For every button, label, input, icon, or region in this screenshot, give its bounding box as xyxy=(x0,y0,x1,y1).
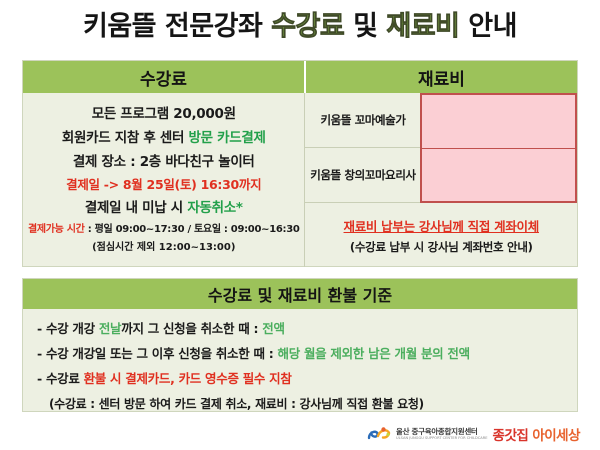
logo-brand-part2: 아이세상 xyxy=(532,424,580,444)
tuition-cell: 모든 프로그램 20,000원 회원카드 지참 후 센터 방문 카드결제 결제 … xyxy=(23,93,305,267)
refund-rule-after-start: - 수강 개강일 또는 그 이후 신청을 취소한 때 : 해당 월을 제외한 남… xyxy=(37,346,577,362)
title-segment-5: 안내 xyxy=(459,11,517,42)
column-header-tuition: 수강료 xyxy=(23,61,306,93)
materials-account-notice: (수강료 납부 시 강사님 계좌번호 안내) xyxy=(350,239,533,255)
materials-price-per-session: (1회 6,000원) xyxy=(420,175,577,193)
refund-rule-1-part1: - 수강 개강 xyxy=(37,321,99,336)
materials-course-price: 24,000원 (1회 3,000원) xyxy=(420,102,577,138)
materials-course-price: 24,000원 (1회 6,000원) xyxy=(420,157,577,193)
refund-policy-table: 수강료 및 재료비 환불 기준 - 수강 개강 전날까지 그 신청을 취소한 때… xyxy=(22,278,578,412)
refund-rule-3-highlight: 환불 시 결제카드, 카드 영수증 필수 지참 xyxy=(84,371,292,386)
refund-rule-1-highlight-day: 전날 xyxy=(99,321,121,336)
tuition-payment-method-highlight: 방문 카드결제 xyxy=(189,130,266,146)
materials-payment-note: 재료비 납부는 강사님께 직접 계좌이체 (수강료 납부 시 강사님 계좌번호 … xyxy=(305,203,577,267)
title-segment-materials: 재료비 xyxy=(386,11,459,42)
tuition-line-payment-method: 회원카드 지참 후 센터 방문 카드결제 xyxy=(62,127,266,149)
tuition-autocancel-highlight: 자동취소* xyxy=(187,200,242,216)
logo-center-name-korean: 울산 중구육아종합지원센터 xyxy=(396,428,488,436)
refund-rule-3-part1: - 수강료 xyxy=(37,371,84,386)
materials-cell: 키움뜰 꼬마예술가 24,000원 (1회 3,000원) 키움뜰 창의꼬마요리… xyxy=(305,93,577,267)
tuition-line-lunch: (점심시간 제외 12:00~13:00) xyxy=(92,240,235,256)
column-header-materials: 재료비 xyxy=(306,61,577,93)
refund-rule-2-part1: - 수강 개강일 또는 그 이후 신청을 취소한 때 : xyxy=(37,346,278,361)
organization-logo: 울산 중구육아종합지원센터 ULSAN JUNGGU SUPPORT CENTE… xyxy=(367,424,580,444)
logo-swoosh-icon xyxy=(367,425,391,443)
refund-policy-header: 수강료 및 재료비 환불 기준 xyxy=(23,279,577,309)
tuition-line-hours: 결제가능 시간 : 평일 09:00~17:30 / 토요일 : 09:00~1… xyxy=(28,221,300,238)
refund-rule-card-required: - 수강료 환불 시 결제카드, 카드 영수증 필수 지참 xyxy=(37,371,577,387)
tuition-hours-label: 결제가능 시간 xyxy=(28,224,85,235)
materials-course-name: 키움뜰 꼬마예술가 xyxy=(305,113,420,128)
materials-price-total: 24,000원 xyxy=(420,102,577,120)
logo-center-name-english: ULSAN JUNGGU SUPPORT CENTER FOR CHILDCAR… xyxy=(396,437,488,441)
refund-rule-1-highlight-amount: 전액 xyxy=(262,321,284,336)
fees-table-header-row: 수강료 재료비 xyxy=(23,61,577,93)
tuition-line-payment-place: 결제 장소 : 2층 바다친구 놀이터 xyxy=(73,151,255,173)
materials-transfer-notice: 재료비 납부는 강사님께 직접 계좌이체 xyxy=(344,216,539,235)
title-segment-1: 키움뜰 전문강좌 xyxy=(83,11,271,42)
materials-price-per-session: (1회 3,000원) xyxy=(420,120,577,138)
materials-row: 키움뜰 창의꼬마요리사 24,000원 (1회 6,000원) xyxy=(305,148,577,203)
fees-table: 수강료 재료비 모든 프로그램 20,000원 회원카드 지참 후 센터 방문 … xyxy=(22,60,578,267)
title-segment-3: 및 xyxy=(344,11,386,42)
refund-rule-1-part3: 까지 그 신청을 취소한 때 : xyxy=(121,321,262,336)
tuition-line-deadline: 결제일 -> 8월 25일(토) 16:30까지 xyxy=(66,175,261,195)
refund-rule-before-start: - 수강 개강 전날까지 그 신청을 취소한 때 : 전액 xyxy=(37,321,577,337)
materials-row: 키움뜰 꼬마예술가 24,000원 (1회 3,000원) xyxy=(305,93,577,148)
refund-rule-detail-note: (수강료 : 센터 방문 하여 카드 결제 취소, 재료비 : 강사님께 직접 … xyxy=(37,396,577,412)
tuition-line-autocancel: 결제일 내 미납 시 자동취소* xyxy=(85,197,243,219)
logo-center-name: 울산 중구육아종합지원센터 ULSAN JUNGGU SUPPORT CENTE… xyxy=(396,428,488,441)
tuition-line-program-price: 모든 프로그램 20,000원 xyxy=(92,103,236,125)
materials-course-name: 키움뜰 창의꼬마요리사 xyxy=(305,168,420,183)
poster-root: 키움뜰 전문강좌 수강료 및 재료비 안내 수강료 재료비 모든 프로그램 20… xyxy=(0,0,600,450)
tuition-payment-method-prefix: 회원카드 지참 후 센터 xyxy=(62,130,189,146)
materials-price-total: 24,000원 xyxy=(420,157,577,175)
refund-rule-2-highlight: 해당 월을 제외한 남은 개월 분의 전액 xyxy=(278,346,470,361)
logo-brand-name: 종갓집 아이세상 xyxy=(493,424,580,444)
logo-brand-part1: 종갓집 xyxy=(493,424,529,444)
fees-table-body-row: 모든 프로그램 20,000원 회원카드 지참 후 센터 방문 카드결제 결제 … xyxy=(23,93,577,267)
tuition-autocancel-prefix: 결제일 내 미납 시 xyxy=(85,200,187,216)
refund-policy-body: - 수강 개강 전날까지 그 신청을 취소한 때 : 전액 - 수강 개강일 또… xyxy=(23,309,577,412)
tuition-hours-value: : 평일 09:00~17:30 / 토요일 : 09:00~16:30 xyxy=(85,224,300,235)
page-title: 키움뜰 전문강좌 수강료 및 재료비 안내 xyxy=(0,8,600,46)
title-segment-tuition: 수강료 xyxy=(271,11,344,42)
